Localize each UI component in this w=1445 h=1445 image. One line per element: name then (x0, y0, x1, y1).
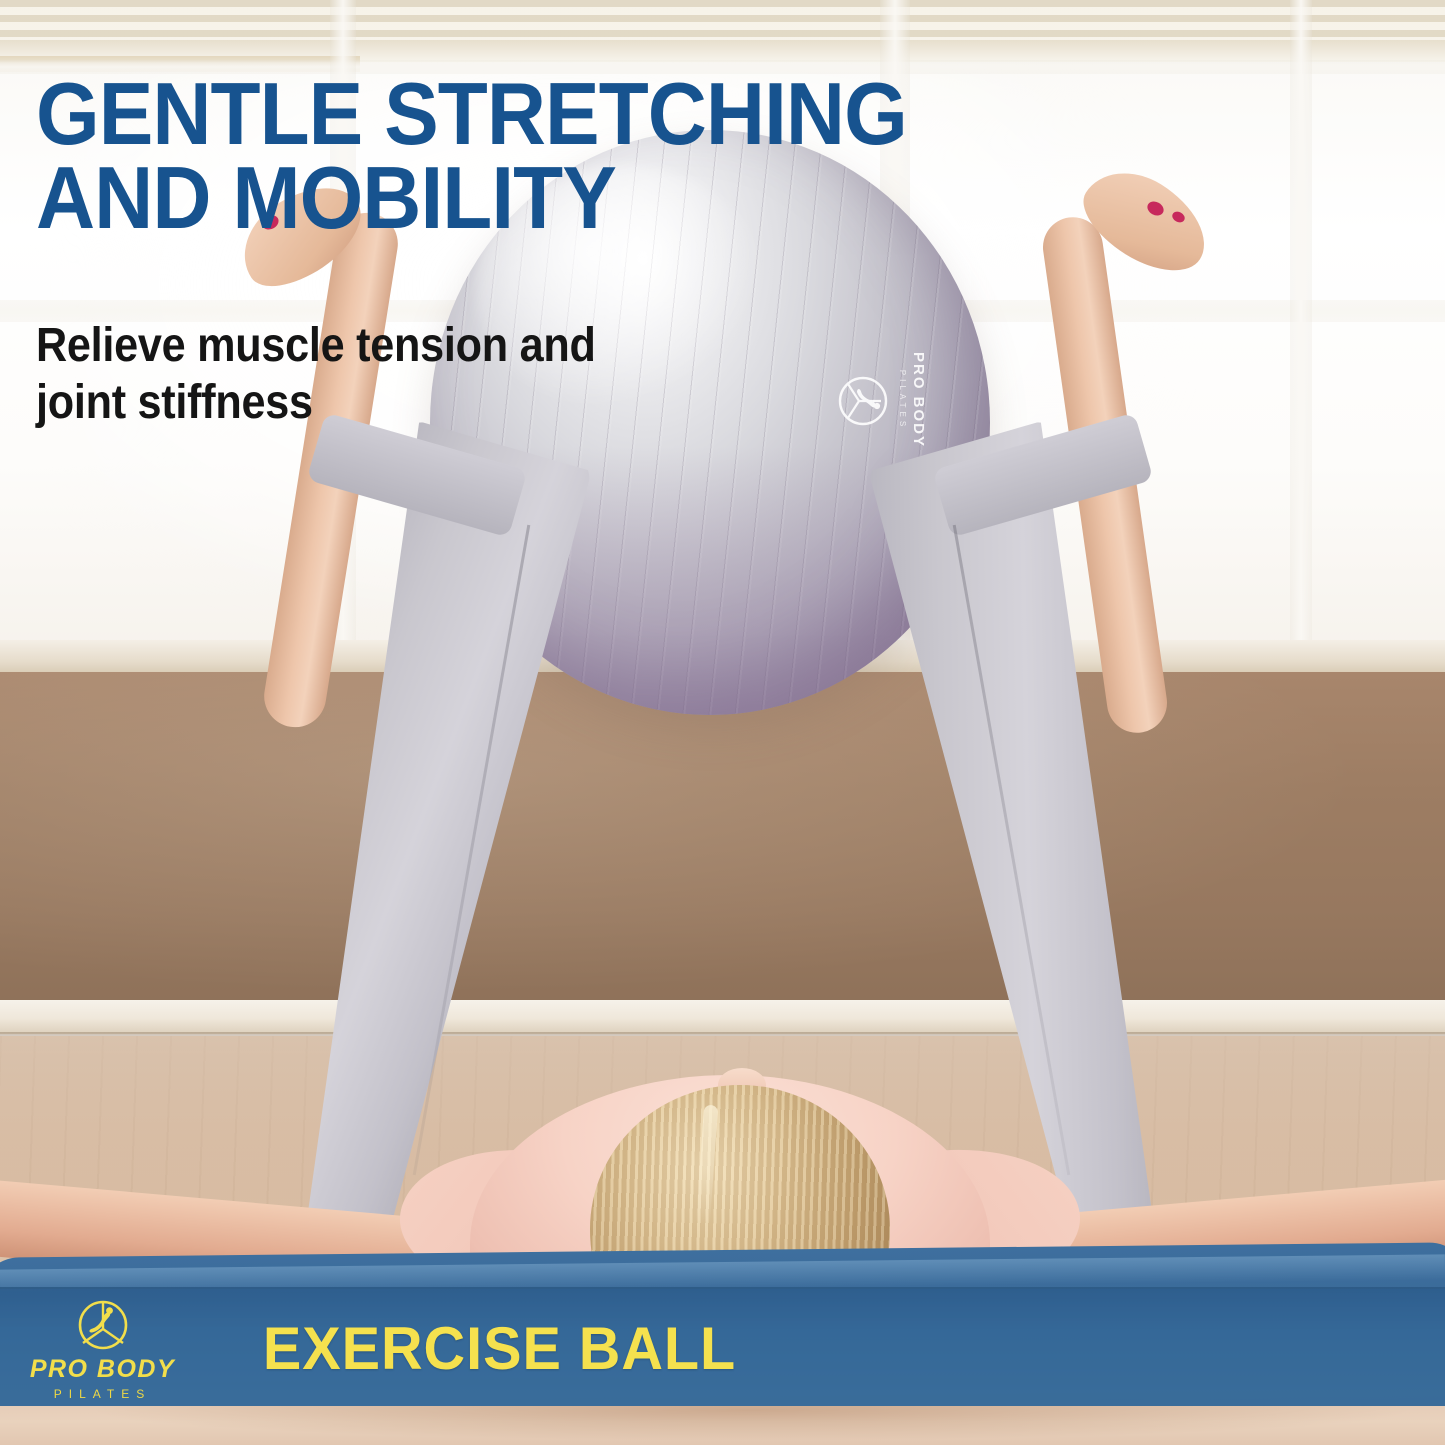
marketing-image-canvas: PRO BODY PILATES (0, 0, 1445, 1445)
product-title-text: EXERCISE BALL (263, 1314, 736, 1383)
brand-logo-lockup: PRO BODY PILATES (0, 1289, 205, 1408)
floor-strip-below-banner (0, 1406, 1445, 1445)
brand-name-text: PRO BODY (30, 1357, 175, 1382)
window-mullion-vertical-right (1290, 0, 1312, 660)
brand-tagline-text: PILATES (54, 1388, 151, 1400)
subheadline-text: Relieve muscle tension and joint stiffne… (36, 318, 720, 431)
baseboard (0, 1000, 1445, 1034)
pilates-figure-in-circle-icon (75, 1299, 131, 1353)
headline-text: GENTLE STRETCHING AND MOBILITY (36, 72, 1003, 241)
bottom-brand-banner: PRO BODY PILATES EXERCISE BALL (0, 1287, 1445, 1410)
tan-wall (0, 672, 1445, 1012)
